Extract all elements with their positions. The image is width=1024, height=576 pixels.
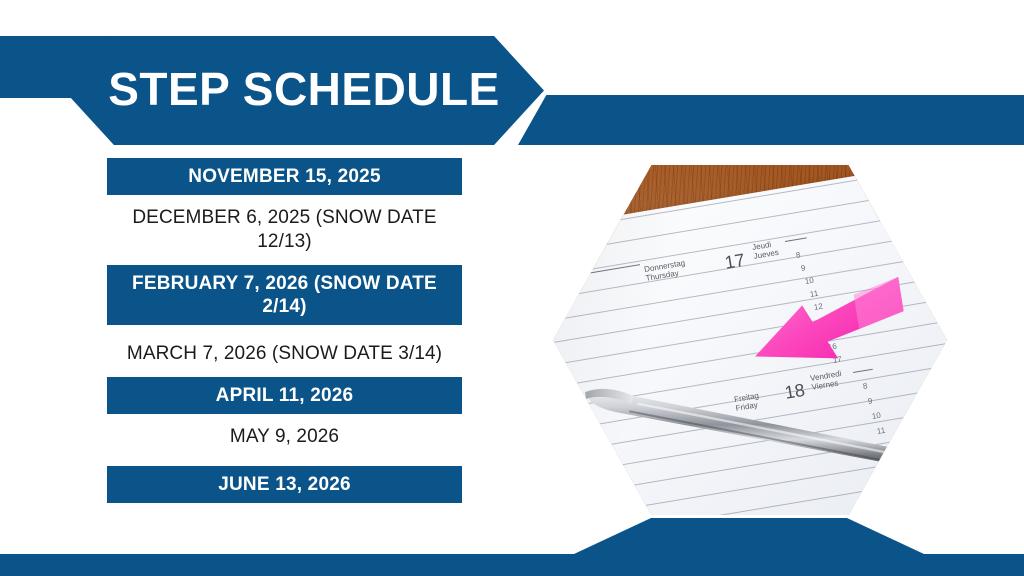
schedule-item-label: APRIL 11, 2026 [216, 384, 354, 407]
planner-photo-hexagon: DonnerstagThursday 17 JeudiJueves 8 9 10… [553, 165, 947, 515]
schedule-item-5: APRIL 11, 2026 [107, 377, 462, 414]
schedule-item-3: FEBRUARY 7, 2026 (SNOW DATE 2/14) [107, 265, 462, 325]
schedule-item-label: MARCH 7, 2026 (SNOW DATE 3/14) [127, 342, 442, 366]
slide-canvas: STEP SCHEDULE NOVEMBER 15, 2025 DECEMBER… [0, 0, 1024, 576]
planner-day-17-number: 17 [723, 250, 746, 274]
schedule-item-7: JUNE 13, 2026 [107, 466, 462, 503]
schedule-item-2: DECEMBER 6, 2025 (SNOW DATE 12/13) [107, 195, 462, 265]
footer-bar [0, 554, 1024, 576]
page-title: STEP SCHEDULE [108, 66, 500, 115]
header-title-banner: STEP SCHEDULE [64, 36, 544, 145]
schedule-item-label: FEBRUARY 7, 2026 (SNOW DATE 2/14) [113, 272, 456, 318]
schedule-item-label: MAY 9, 2026 [230, 425, 339, 449]
schedule-item-label: DECEMBER 6, 2025 (SNOW DATE 12/13) [111, 206, 458, 254]
schedule-item-4: MARCH 7, 2026 (SNOW DATE 3/14) [107, 331, 462, 377]
schedule-item-1: NOVEMBER 15, 2025 [107, 158, 462, 195]
schedule-item-label: NOVEMBER 15, 2025 [188, 165, 380, 188]
schedule-item-label: JUNE 13, 2026 [218, 473, 351, 496]
header-right-accent-shape [518, 95, 1024, 145]
pen-icon [577, 375, 939, 480]
schedule-item-6: MAY 9, 2026 [107, 414, 462, 460]
schedule-list: NOVEMBER 15, 2025 DECEMBER 6, 2025 (SNOW… [107, 158, 462, 503]
footer-trapezoid-accent [574, 518, 924, 554]
ballpoint-pen [577, 375, 939, 480]
